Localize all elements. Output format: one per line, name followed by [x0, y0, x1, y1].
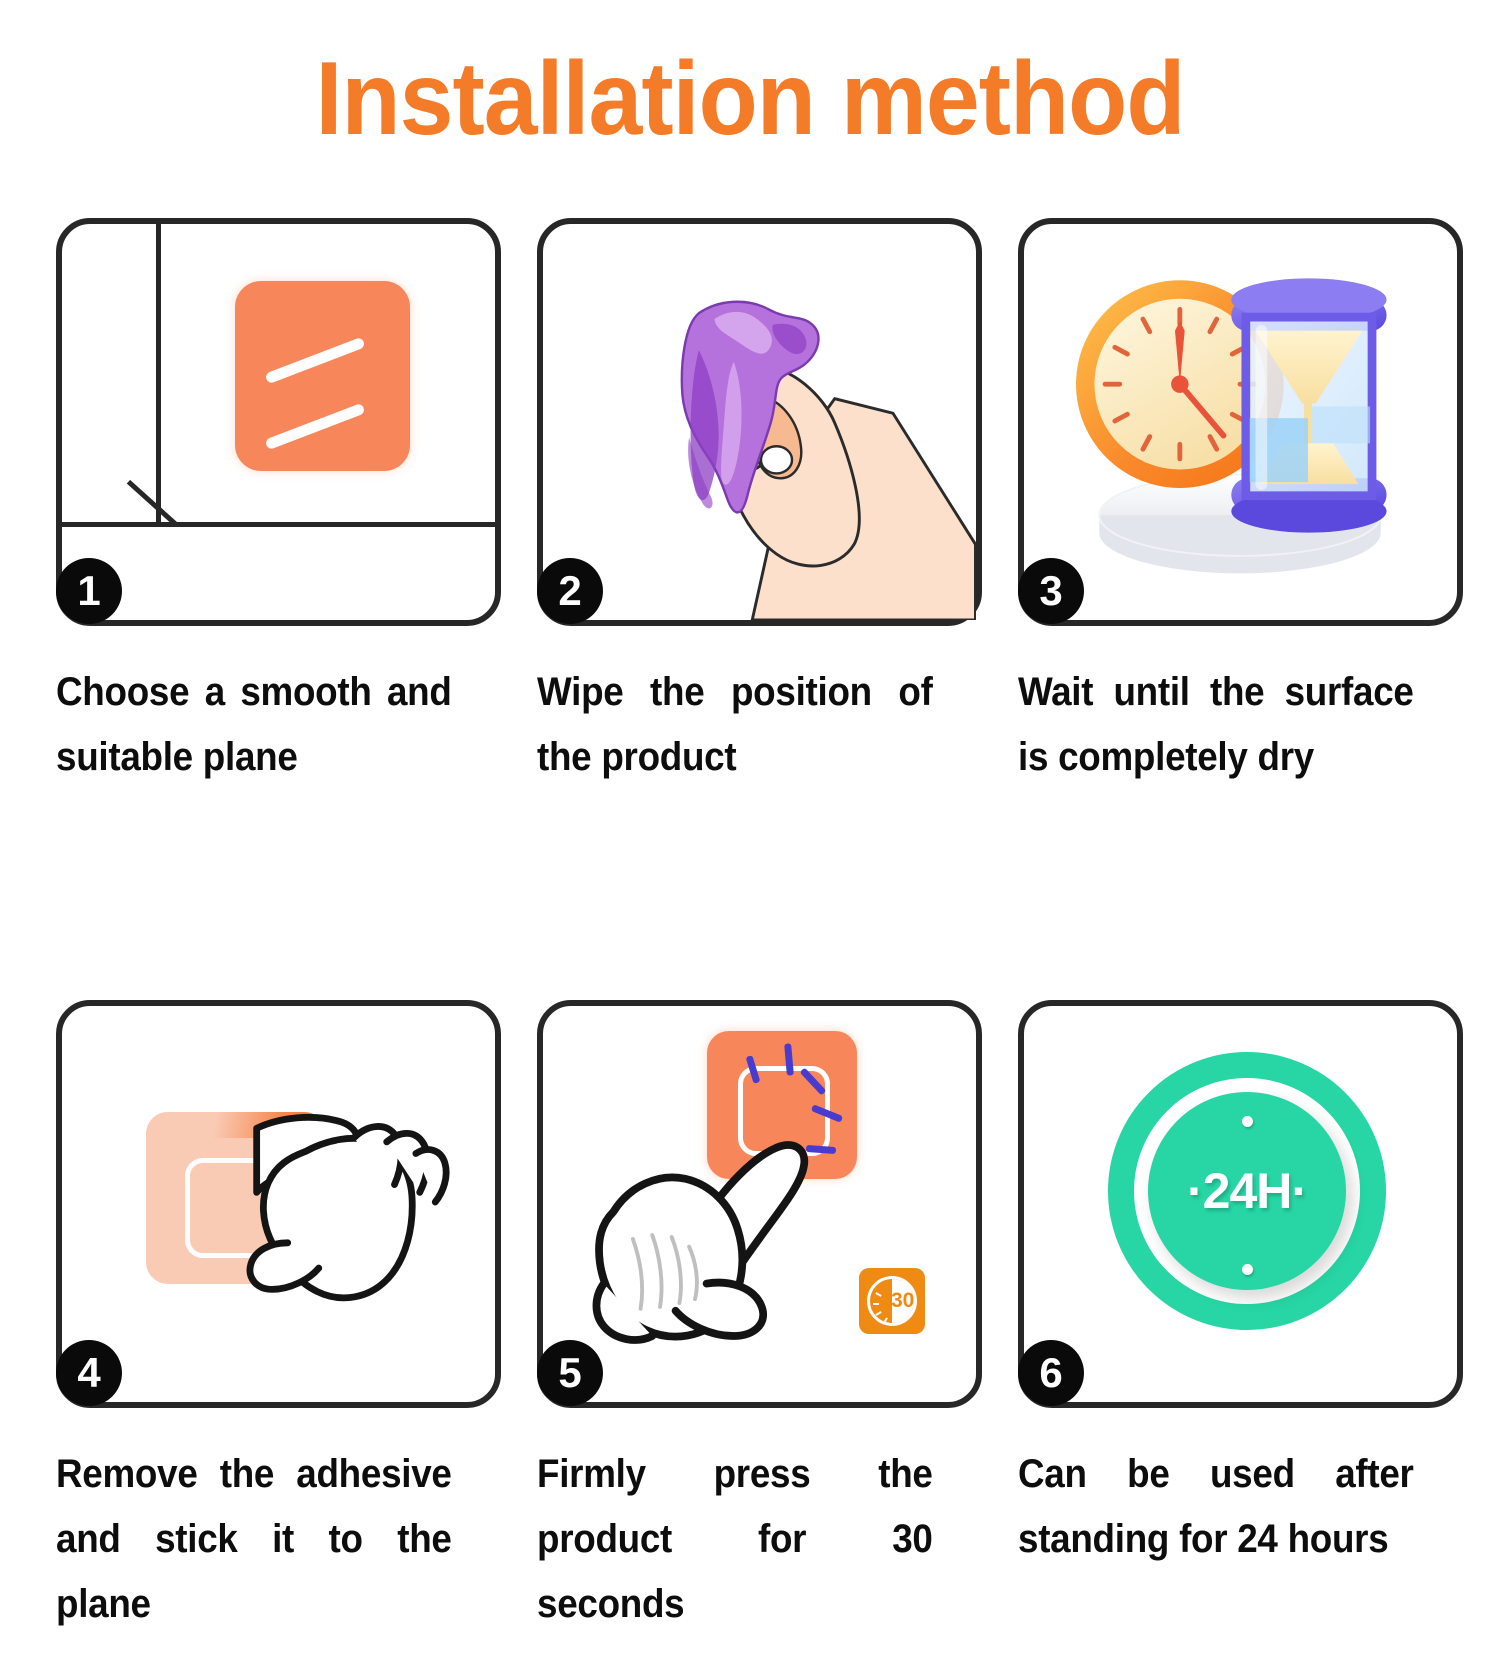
- wall-horizontal-line: [62, 522, 501, 527]
- step-caption: Choose a smooth and suitable plane: [56, 660, 452, 790]
- step-number-badge: 3: [1018, 558, 1084, 624]
- step-card-4: 4 Remove the adhesive and stick it to th…: [56, 1000, 501, 1636]
- step-number-badge: 6: [1018, 1340, 1084, 1406]
- step-illustration-panel-2: 2: [537, 218, 982, 626]
- thirty-second-timer-icon: 30: [859, 1268, 925, 1334]
- hand-holding-cloth-icon: [543, 224, 976, 620]
- step-caption: Firmly press the product for 30 seconds: [537, 1442, 933, 1636]
- wall-vertical-line: [156, 224, 161, 524]
- plate-shine-line-1: [264, 337, 365, 385]
- step-illustration-panel-4: 4: [56, 1000, 501, 1408]
- clock-and-hourglass-icon: [1024, 224, 1457, 620]
- step-number-badge: 4: [56, 1340, 122, 1406]
- step-illustration-panel-5: 30 5: [537, 1000, 982, 1408]
- timer-value: 30: [891, 1290, 914, 1311]
- step-card-6: ·24H· 6 Can be used after standing for 2…: [1018, 1000, 1463, 1572]
- step-card-2: 2 Wipe the position of the product: [537, 218, 982, 790]
- badge-dot-bottom: [1242, 1264, 1253, 1275]
- timer-tick: [873, 1303, 879, 1305]
- steps-row-bottom: 4 Remove the adhesive and stick it to th…: [56, 1000, 1464, 1670]
- step-card-3: 3 Wait until the surface is completely d…: [1018, 218, 1463, 790]
- step-illustration-panel-3: 3: [1018, 218, 1463, 626]
- step-caption: Can be used after standing for 24 hours: [1018, 1442, 1414, 1572]
- step-card-5: 30 5 Firmly press the product for 30 sec…: [537, 1000, 982, 1636]
- timer-tick: [875, 1292, 881, 1297]
- step-number-badge: 1: [56, 558, 122, 624]
- step-number-badge: 5: [537, 1340, 603, 1406]
- orange-plate-icon: [235, 281, 410, 471]
- steps-grid: 1 Choose a smooth and suitable plane: [56, 218, 1464, 1670]
- step-card-1: 1 Choose a smooth and suitable plane: [56, 218, 501, 790]
- peel-adhesive-hand-icon: [62, 1006, 495, 1402]
- step-illustration-panel-1: 1: [56, 218, 501, 626]
- timer-tick: [883, 1317, 888, 1323]
- pressing-glove-hand-icon: [543, 1006, 976, 1402]
- wall-corner-diagonal-line: [127, 480, 178, 527]
- page-title: Installation method: [53, 40, 1448, 159]
- step-illustration-panel-6: ·24H· 6: [1018, 1000, 1463, 1408]
- timer-tick: [894, 1320, 896, 1326]
- step-caption: Remove the adhesive and stick it to the …: [56, 1442, 452, 1636]
- plate-shine-line-2: [264, 403, 365, 451]
- timer-tick: [875, 1311, 881, 1316]
- step-caption: Wait until the surface is completely dry: [1018, 660, 1414, 790]
- badge-dot-top: [1242, 1116, 1253, 1127]
- step-number-badge: 2: [537, 558, 603, 624]
- steps-row-top: 1 Choose a smooth and suitable plane: [56, 218, 1464, 818]
- step-caption: Wipe the position of the product: [537, 660, 933, 790]
